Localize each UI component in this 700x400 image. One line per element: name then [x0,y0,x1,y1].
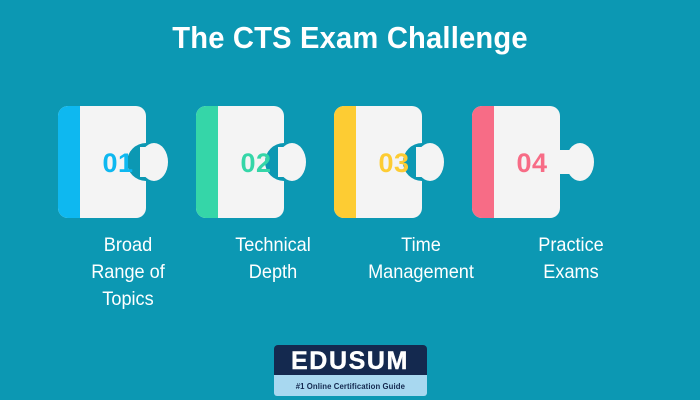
puzzle-piece-03: 03 [334,106,444,218]
piece-03-number: 03 [378,148,409,178]
caption-piece-01: Broad Range of Topics [63,232,193,313]
logo-tagline: #1 Online Certification Guide [295,382,404,392]
caption-line: Technical [208,232,338,259]
puzzle-piece-02: 02 [196,106,306,218]
piece-01-accent-strip [58,106,80,218]
page-title: The CTS Exam Challenge [21,20,679,56]
piece-02-number: 02 [240,148,271,178]
piece-01-knob-neck [140,147,152,177]
puzzle-graphic: 01 02 03 [0,100,700,224]
piece-01-number: 01 [102,148,133,178]
piece-04-tab [566,143,594,181]
piece-03-knob-neck [416,147,428,177]
puzzle-piece-04: 04 [472,106,594,218]
caption-line: Practice [506,232,636,259]
caption-piece-02: Technical Depth [208,232,338,313]
caption-line: Exams [506,259,636,286]
puzzle-piece-row: 01 02 03 [0,100,700,224]
logo-wordmark: EDUSUM [291,348,409,374]
brand-logo: EDUSUM #1 Online Certification Guide [0,345,700,396]
caption-piece-03: Time Management [347,232,496,313]
caption-line: Broad [63,232,193,259]
piece-04-number: 04 [516,148,547,178]
piece-03-accent-strip [334,106,356,218]
logo-inner: EDUSUM #1 Online Certification Guide [274,345,427,396]
piece-04-accent-strip [472,106,494,218]
logo-tagline-bar: #1 Online Certification Guide [274,375,427,396]
puzzle-piece-01: 01 [58,106,168,218]
logo-wordmark-bar: EDUSUM [274,345,427,375]
piece-02-accent-strip [196,106,218,218]
caption-line: Topics [63,286,193,313]
piece-02-knob-neck [278,147,290,177]
caption-line: Range of [63,259,193,286]
caption-line: Management [347,259,496,286]
caption-piece-04: Practice Exams [506,232,636,313]
caption-line: Depth [208,259,338,286]
caption-line: Time [347,232,496,259]
caption-row: Broad Range of Topics Technical Depth Ti… [0,232,700,313]
